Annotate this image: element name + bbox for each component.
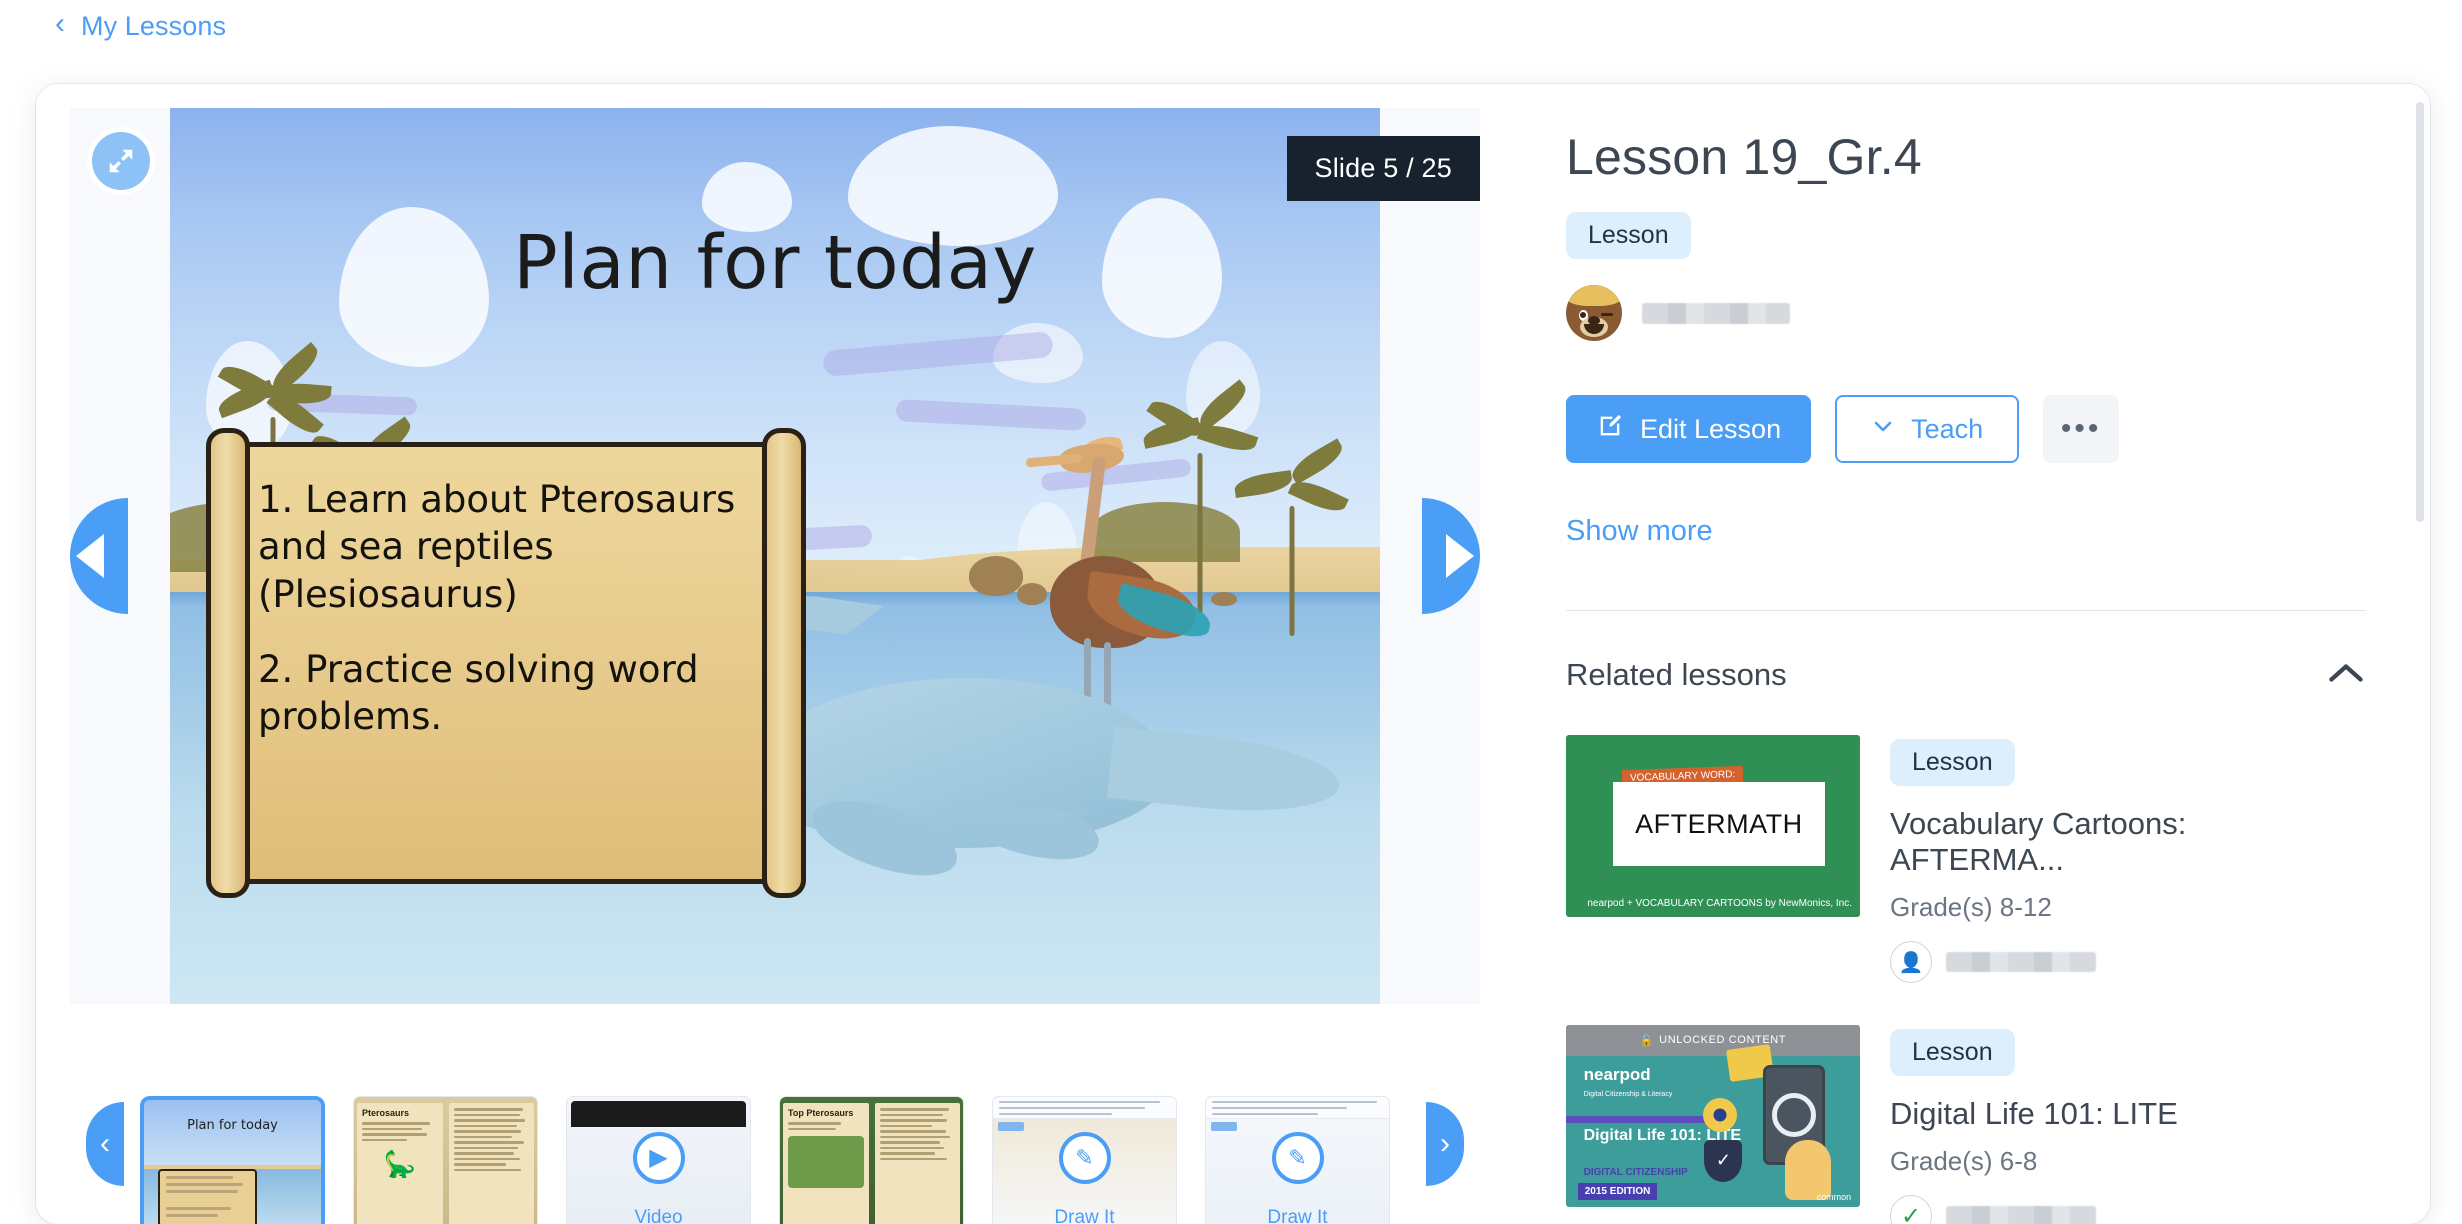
thumbnail-label: Draw It xyxy=(993,1207,1176,1224)
related-lesson-name: Vocabulary Cartoons: AFTERMA... xyxy=(1890,806,2366,878)
thumbnail-title: Plan for today xyxy=(144,1118,321,1133)
author-name-redacted xyxy=(1946,1206,2096,1224)
thumbnail-item[interactable]: ✎ Draw It xyxy=(1205,1096,1390,1224)
thumbnail-footer: nearpod + VOCABULARY CARTOONS by NewMoni… xyxy=(1587,898,1852,909)
edit-lesson-button[interactable]: Edit Lesson xyxy=(1566,395,1811,463)
author-name-redacted xyxy=(1642,303,1790,324)
related-lessons-header[interactable]: Related lessons xyxy=(1566,657,2366,693)
slide-canvas: ✦ ✦ ✦ Plan for today 1. Learn about Pter… xyxy=(170,108,1380,1004)
vocabulary-word: AFTERMATH xyxy=(1613,782,1825,866)
slide-stage: ✦ ✦ ✦ Plan for today 1. Learn about Pter… xyxy=(70,108,1480,1004)
related-lesson-grade: Grade(s) 8-12 xyxy=(1890,892,2366,923)
pencil-square-icon xyxy=(1596,412,1624,447)
author-row xyxy=(1566,285,2366,341)
pencil-icon: ✎ xyxy=(1272,1132,1324,1184)
slide-counter: Slide 5 / 25 xyxy=(1287,136,1481,201)
status-badge: Lesson xyxy=(1890,739,2015,786)
more-options-button[interactable]: ••• xyxy=(2043,395,2119,463)
related-lesson-item[interactable]: VOCABULARY WORD: AFTERMATH nearpod + VOC… xyxy=(1566,735,2366,983)
bear-avatar-icon xyxy=(1566,285,1622,341)
details-scrollbar[interactable] xyxy=(2416,102,2424,522)
page-title: Lesson 19_Gr.4 xyxy=(1566,128,2366,186)
related-lesson-name: Digital Life 101: LITE xyxy=(1890,1096,2178,1132)
previous-slide-button[interactable] xyxy=(70,498,128,614)
status-badge: Lesson xyxy=(1890,1029,2015,1076)
thumbnail-item[interactable]: ✎ Draw It xyxy=(992,1096,1177,1224)
slide-title: Plan for today xyxy=(170,220,1380,306)
section-divider xyxy=(1566,610,2366,611)
chevron-left-icon[interactable]: ‹ xyxy=(55,9,65,39)
slide-scroll: 1. Learn about Pterosaurs and sea reptil… xyxy=(206,432,806,894)
triangle-left-icon xyxy=(76,534,104,578)
scroll-item-2: 2. Practice solving word problems. xyxy=(258,646,760,741)
scroll-item-1: 1. Learn about Pterosaurs and sea reptil… xyxy=(258,476,760,618)
common-sense-label: common xyxy=(1817,1192,1852,1202)
lesson-detail-card: ✦ ✦ ✦ Plan for today 1. Learn about Pter… xyxy=(36,84,2430,1224)
shield-check-icon: ✓ xyxy=(1704,1140,1742,1182)
thumbnail-title: Pterosaurs xyxy=(362,1108,438,1118)
author-name-redacted xyxy=(1946,952,2096,972)
related-lessons-title: Related lessons xyxy=(1566,657,1787,693)
chevron-up-icon[interactable] xyxy=(2326,660,2366,691)
edition-badge: 2015 EDITION xyxy=(1578,1183,1658,1200)
show-more-link[interactable]: Show more xyxy=(1566,515,1713,548)
related-lesson-author: ✓ xyxy=(1890,1195,2178,1224)
related-lesson-item[interactable]: 🔓 UNLOCKED CONTENT nearpod Digital Citiz… xyxy=(1566,1025,2366,1224)
thumbnail-label: Video xyxy=(567,1207,750,1224)
thumbnail-item[interactable]: Pterosaurs 🦕 xyxy=(353,1096,538,1224)
slide-viewer: ✦ ✦ ✦ Plan for today 1. Learn about Pter… xyxy=(36,84,1514,1224)
teach-label: Teach xyxy=(1911,414,1983,445)
pencil-icon: ✎ xyxy=(1059,1132,1111,1184)
action-buttons: Edit Lesson Teach ••• xyxy=(1566,395,2366,463)
thumbnail-subtitle: DIGITAL CITIZENSHIP xyxy=(1584,1167,1688,1178)
thumbnail-label: Draw It xyxy=(1206,1207,1389,1224)
related-lesson-grade: Grade(s) 6-8 xyxy=(1890,1146,2178,1177)
thumbnail-item[interactable]: Top Pterosaurs xyxy=(779,1096,964,1224)
related-lesson-thumbnail: 🔓 UNLOCKED CONTENT nearpod Digital Citiz… xyxy=(1566,1025,1860,1207)
thumbnail-strip: ‹ › Plan for today xyxy=(36,1084,1514,1224)
breadcrumb[interactable]: ‹ My Lessons xyxy=(0,0,2462,52)
common-sense-check-icon: ✓ xyxy=(1890,1195,1932,1224)
unlock-icon: 🔓 xyxy=(1640,1034,1654,1047)
related-lesson-author: 👤 xyxy=(1890,941,2366,983)
nearpod-logo: nearpod xyxy=(1584,1065,1651,1085)
expand-arrows-icon[interactable] xyxy=(92,132,150,190)
chevron-down-icon xyxy=(1871,414,1895,445)
status-badge: Lesson xyxy=(1566,212,1691,259)
edit-lesson-label: Edit Lesson xyxy=(1640,414,1781,445)
thumbnail-item[interactable]: Plan for today xyxy=(140,1096,325,1224)
play-cursor-icon: ▶ xyxy=(633,1132,685,1184)
vocabulary-cartoons-icon: 👤 xyxy=(1890,941,1932,983)
breadcrumb-label[interactable]: My Lessons xyxy=(81,11,226,42)
teach-button[interactable]: Teach xyxy=(1835,395,2019,463)
logo-subtitle: Digital Citizenship & Literacy xyxy=(1584,1091,1673,1100)
triangle-right-icon xyxy=(1446,534,1474,578)
thumbnail-prev-button[interactable]: ‹ xyxy=(86,1102,124,1186)
next-slide-button[interactable] xyxy=(1422,498,1480,614)
lesson-details-pane: Lesson 19_Gr.4 Lesson xyxy=(1514,84,2430,1224)
related-lesson-thumbnail: VOCABULARY WORD: AFTERMATH nearpod + VOC… xyxy=(1566,735,1860,917)
thumbnail-title: Top Pterosaurs xyxy=(788,1108,864,1118)
thumbnail-next-button[interactable]: › xyxy=(1426,1102,1464,1186)
eye-icon xyxy=(1703,1098,1737,1132)
thumbnail-item[interactable]: ▶ Video xyxy=(566,1096,751,1224)
